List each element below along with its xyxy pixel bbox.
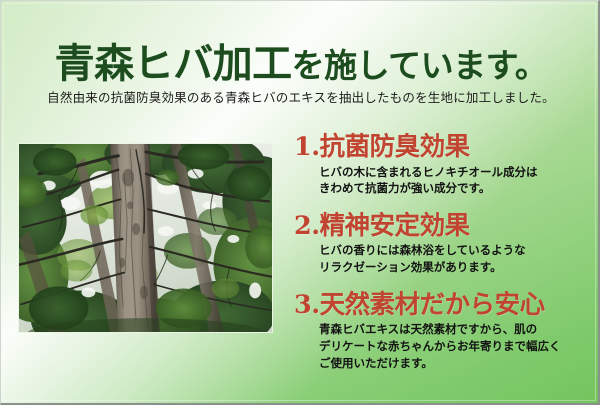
feature-number-3: 3. [294, 290, 320, 320]
feature-title-2: 精神安定効果 [320, 211, 470, 241]
forest-photo-image [19, 144, 272, 332]
page-subtitle: 自然由来の抗菌防臭効果のある青森ヒバのエキスを抽出したものを生地に加工しました。 [1, 87, 600, 106]
feature-description-1: ヒバの木に含まれるヒノキチオール成分は きわめて抗菌力が強い成分です。 [319, 165, 594, 198]
feature-heading-1: 1.抗菌防臭効果 [294, 133, 594, 162]
feature-list: 1.抗菌防臭効果 ヒバの木に含まれるヒノキチオール成分は きわめて抗菌力が強い成… [294, 133, 594, 378]
page-title: 青森ヒバ加工を施しています。 [1, 31, 600, 89]
feature-item-3: 3.天然素材だから安心 青森ヒバエキスは天然素材ですから、肌の デリケートな赤ち… [294, 291, 594, 373]
feature-description-2: ヒバの香りには森林浴をしているような リラクゼーション効果があります。 [319, 243, 594, 276]
feature-title-3: 天然素材だから安心 [320, 290, 545, 320]
feature-heading-2: 2.精神安定効果 [294, 212, 594, 241]
feature-number-1: 1. [294, 132, 320, 162]
page-title-tail: を施しています。 [292, 46, 548, 85]
hiba-forest-photo [18, 143, 273, 333]
feature-description-3: 青森ヒバエキスは天然素材ですから、肌の デリケートな赤ちゃんからお年寄りまで幅広… [319, 322, 594, 372]
hiba-promo-banner: 青森ヒバ加工を施しています。 自然由来の抗菌防臭効果のある青森ヒバのエキスを抽出… [0, 0, 600, 405]
feature-number-2: 2. [294, 211, 320, 241]
feature-title-1: 抗菌防臭効果 [320, 132, 470, 162]
feature-item-2: 2.精神安定効果 ヒバの香りには森林浴をしているような リラクゼーション効果があ… [294, 212, 594, 277]
feature-item-1: 1.抗菌防臭効果 ヒバの木に含まれるヒノキチオール成分は きわめて抗菌力が強い成… [294, 133, 594, 198]
page-title-main: 青森ヒバ加工 [55, 40, 292, 87]
feature-heading-3: 3.天然素材だから安心 [294, 291, 594, 320]
